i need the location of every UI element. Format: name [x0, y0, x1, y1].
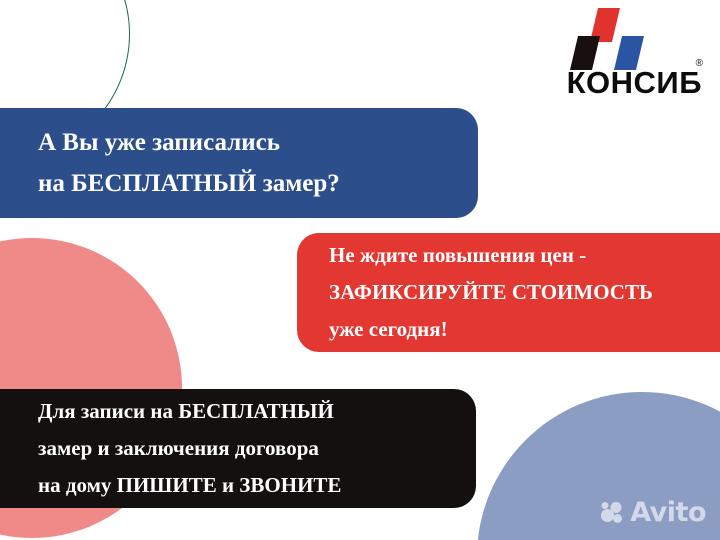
ad-banner-canvas: КОНСИБ ® А Вы уже записались на БЕСПЛАТН… — [0, 0, 720, 540]
logo-mark-icon — [570, 8, 644, 70]
avito-dots-icon — [601, 502, 625, 524]
brand-logo: КОНСИБ ® — [524, 8, 702, 100]
banner-blue-line-1: А Вы уже записались — [38, 122, 478, 163]
cta-banner-black: Для записи на БЕСПЛАТНЫЙ замер и заключе… — [0, 389, 476, 508]
logo-wordmark: КОНСИБ — [524, 66, 702, 100]
avito-watermark: Avito — [601, 499, 706, 526]
banner-red-line-2: ЗАФИКСИРУЙТЕ СТОИМОСТЬ — [329, 274, 720, 311]
headline-banner-blue: А Вы уже записались на БЕСПЛАТНЫЙ замер? — [0, 108, 478, 218]
urgency-banner-red: Не ждите повышения цен - ЗАФИКСИРУЙТЕ СТ… — [297, 233, 720, 352]
banner-blue-line-2: на БЕСПЛАТНЫЙ замер? — [38, 163, 478, 204]
banner-black-line-3: на дому ПИШИТЕ и ЗВОНИТЕ — [38, 467, 476, 504]
banner-red-line-1: Не ждите повышения цен - — [329, 237, 720, 274]
registered-trademark-symbol: ® — [696, 58, 703, 69]
avito-wordmark: Avito — [630, 499, 706, 526]
banner-red-line-3: уже сегодня! — [329, 311, 720, 348]
banner-black-line-1: Для записи на БЕСПЛАТНЫЙ — [38, 393, 476, 430]
banner-black-line-2: замер и заключения договора — [38, 430, 476, 467]
